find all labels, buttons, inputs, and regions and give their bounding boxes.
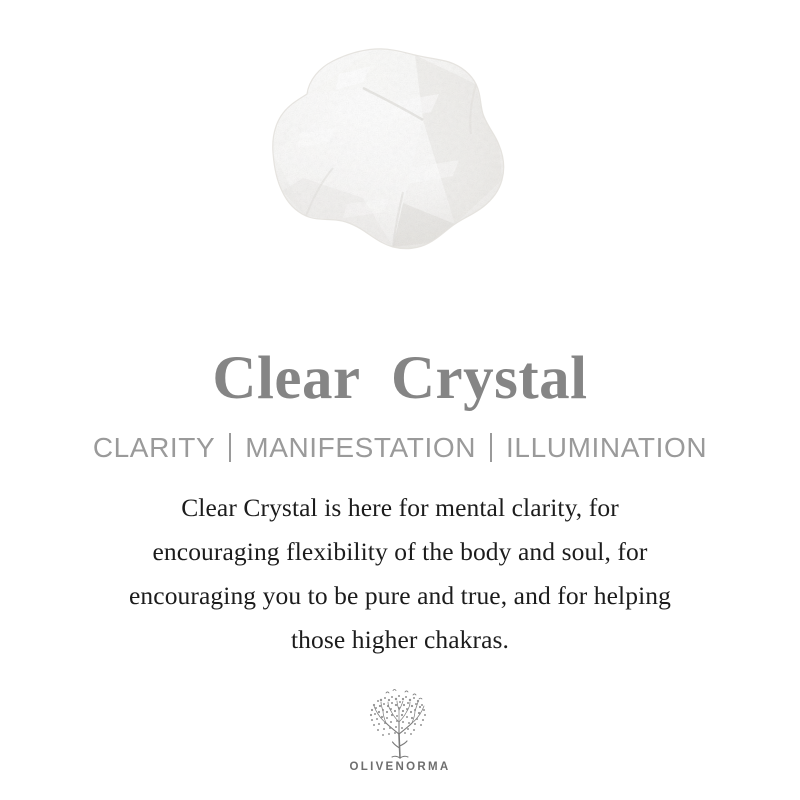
keyword-illumination: ILLUMINATION <box>506 434 707 462</box>
keyword-clarity: CLARITY <box>93 434 215 462</box>
product-description: Clear Crystal is here for mental clarity… <box>50 486 750 662</box>
brand-logo: OLIVENORMA <box>0 688 800 774</box>
keyword-manifestation: MANIFESTATION <box>245 434 476 462</box>
description-line-2: encouraging flexibility of the body and … <box>50 530 750 574</box>
brand-name: OLIVENORMA <box>350 762 451 774</box>
keyword-separator-2 <box>490 433 492 462</box>
olive-tree-icon <box>361 688 439 760</box>
crystal-illustration <box>243 28 533 286</box>
product-image-area <box>0 0 800 310</box>
crystal-body <box>243 28 533 286</box>
page-title: Clear Crystal <box>212 348 587 409</box>
description-line-3: encouraging you to be pure and true, and… <box>50 574 750 618</box>
description-line-4: those higher chakras. <box>50 618 750 662</box>
clear-crystal-image <box>243 28 533 286</box>
product-info-card: Clear Crystal CLARITY MANIFESTATION ILLU… <box>0 0 800 800</box>
keyword-list: CLARITY MANIFESTATION ILLUMINATION <box>93 433 707 462</box>
description-line-1: Clear Crystal is here for mental clarity… <box>50 486 750 530</box>
keyword-separator-1 <box>229 433 231 462</box>
